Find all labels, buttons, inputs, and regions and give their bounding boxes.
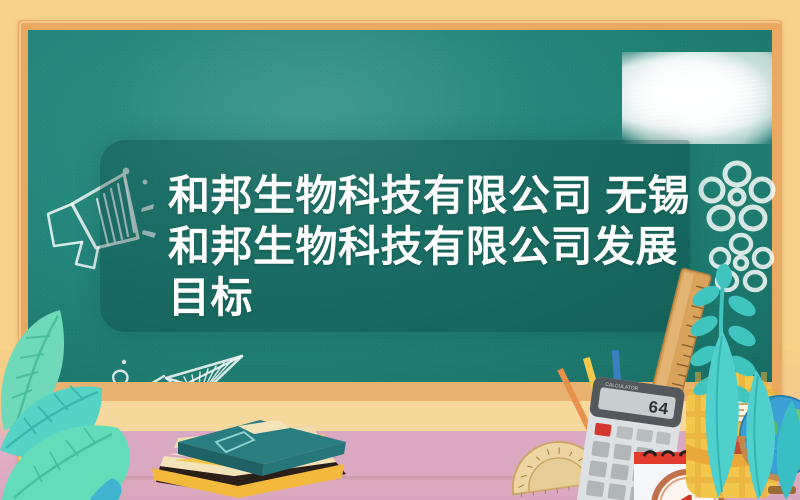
- banner-image: 和邦生物科技有限公司 无锡和邦生物科技有限公司发展目标: [0, 0, 800, 500]
- page-title: 和邦生物科技有限公司 无锡和邦生物科技有限公司发展目标: [168, 170, 696, 323]
- desk-surface: [28, 382, 772, 476]
